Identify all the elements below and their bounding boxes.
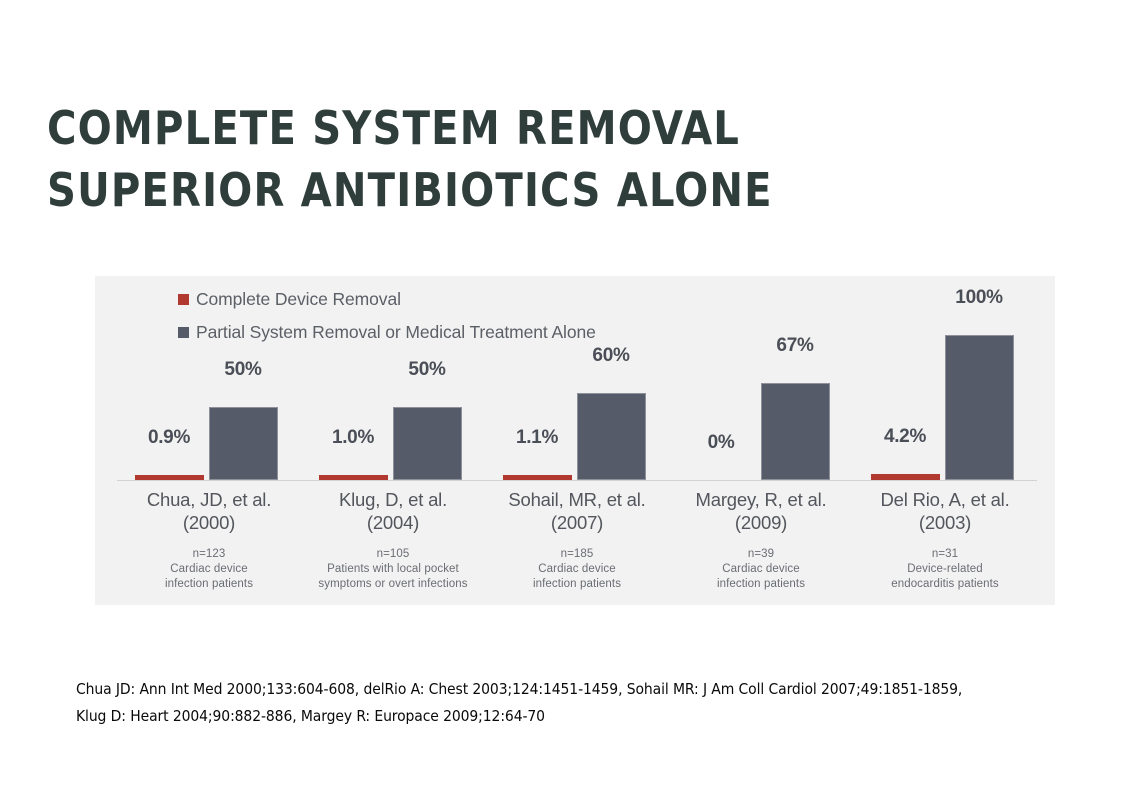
value-label-partial-removal-klug: 50% [382,359,472,381]
plot-area: 0.9% 50% Chua, JD, et al. (2000) n=123 C… [95,276,1055,605]
category-n-klug: n=105 [301,547,485,562]
category-label-chua: Chua, JD, et al. (2000) n=123 Cardiac de… [117,488,301,592]
category-year-del-rio: (2003) [853,511,1037,534]
page-title: Complete System Removal Superior Antibio… [47,97,1017,221]
bar-complete-removal-klug[interactable] [319,475,388,480]
chart-panel: Complete Device Removal Partial System R… [95,276,1055,605]
bar-group-klug: 1.0% 50% Klug, D, et al. (2004) n=105 Pa… [301,276,485,605]
bar-group-del-rio: 4.2% 100% Del Rio, A, et al. (2003) n=31… [853,276,1037,605]
category-population-line2-chua: infection patients [117,577,301,592]
page-title-line-1: Complete System Removal [47,97,1017,159]
page-title-line-2: Superior Antibiotics Alone [47,159,1017,221]
category-author-klug: Klug, D, et al. [301,488,485,511]
value-label-partial-removal-del-rio: 100% [934,287,1024,309]
bar-group-sohail: 1.1% 60% Sohail, MR, et al. (2007) n=185… [485,276,669,605]
category-label-sohail: Sohail, MR, et al. (2007) n=185 Cardiac … [485,488,669,592]
category-population-line2-sohail: infection patients [485,577,669,592]
category-n-sohail: n=185 [485,547,669,562]
bar-complete-removal-sohail[interactable] [503,475,572,480]
bar-partial-removal-margey[interactable] [761,383,830,480]
value-label-partial-removal-chua: 50% [198,359,288,381]
value-label-complete-removal-sohail: 1.1% [492,427,582,449]
category-author-sohail: Sohail, MR, et al. [485,488,669,511]
category-year-margey: (2009) [669,511,853,534]
bar-complete-removal-del-rio[interactable] [871,474,940,480]
category-population-line1-margey: Cardiac device [669,562,853,577]
bar-partial-removal-del-rio[interactable] [945,335,1014,480]
category-author-margey: Margey, R, et al. [669,488,853,511]
value-label-complete-removal-del-rio: 4.2% [860,426,950,448]
category-n-chua: n=123 [117,547,301,562]
bar-partial-removal-chua[interactable] [209,407,278,480]
citation-footer: Chua JD: Ann Int Med 2000;133:604-608, d… [76,676,1116,730]
citation-line-1: Chua JD: Ann Int Med 2000;133:604-608, d… [76,676,1116,703]
category-label-del-rio: Del Rio, A, et al. (2003) n=31 Device-re… [853,488,1037,592]
category-population-line2-del-rio: endocarditis patients [853,577,1037,592]
citation-line-2: Klug D: Heart 2004;90:882-886, Margey R:… [76,703,1116,730]
category-population-line1-sohail: Cardiac device [485,562,669,577]
category-year-chua: (2000) [117,511,301,534]
category-label-klug: Klug, D, et al. (2004) n=105 Patients wi… [301,488,485,592]
category-label-margey: Margey, R, et al. (2009) n=39 Cardiac de… [669,488,853,592]
category-author-del-rio: Del Rio, A, et al. [853,488,1037,511]
value-label-partial-removal-sohail: 60% [566,345,656,367]
category-population-line1-klug: Patients with local pocket [301,562,485,577]
bar-partial-removal-klug[interactable] [393,407,462,480]
bar-complete-removal-chua[interactable] [135,475,204,480]
value-label-complete-removal-chua: 0.9% [124,427,214,449]
category-n-del-rio: n=31 [853,547,1037,562]
category-population-line2-margey: infection patients [669,577,853,592]
category-author-chua: Chua, JD, et al. [117,488,301,511]
value-label-partial-removal-margey: 67% [750,335,840,357]
value-label-complete-removal-margey: 0% [676,432,766,454]
value-label-complete-removal-klug: 1.0% [308,427,398,449]
category-population-line1-chua: Cardiac device [117,562,301,577]
category-year-sohail: (2007) [485,511,669,534]
bar-group-chua: 0.9% 50% Chua, JD, et al. (2000) n=123 C… [117,276,301,605]
bar-group-margey: 0% 67% Margey, R, et al. (2009) n=39 Car… [669,276,853,605]
bar-partial-removal-sohail[interactable] [577,393,646,480]
category-n-margey: n=39 [669,547,853,562]
category-population-line1-del-rio: Device-related [853,562,1037,577]
category-population-line2-klug: symptoms or overt infections [301,577,485,592]
category-year-klug: (2004) [301,511,485,534]
